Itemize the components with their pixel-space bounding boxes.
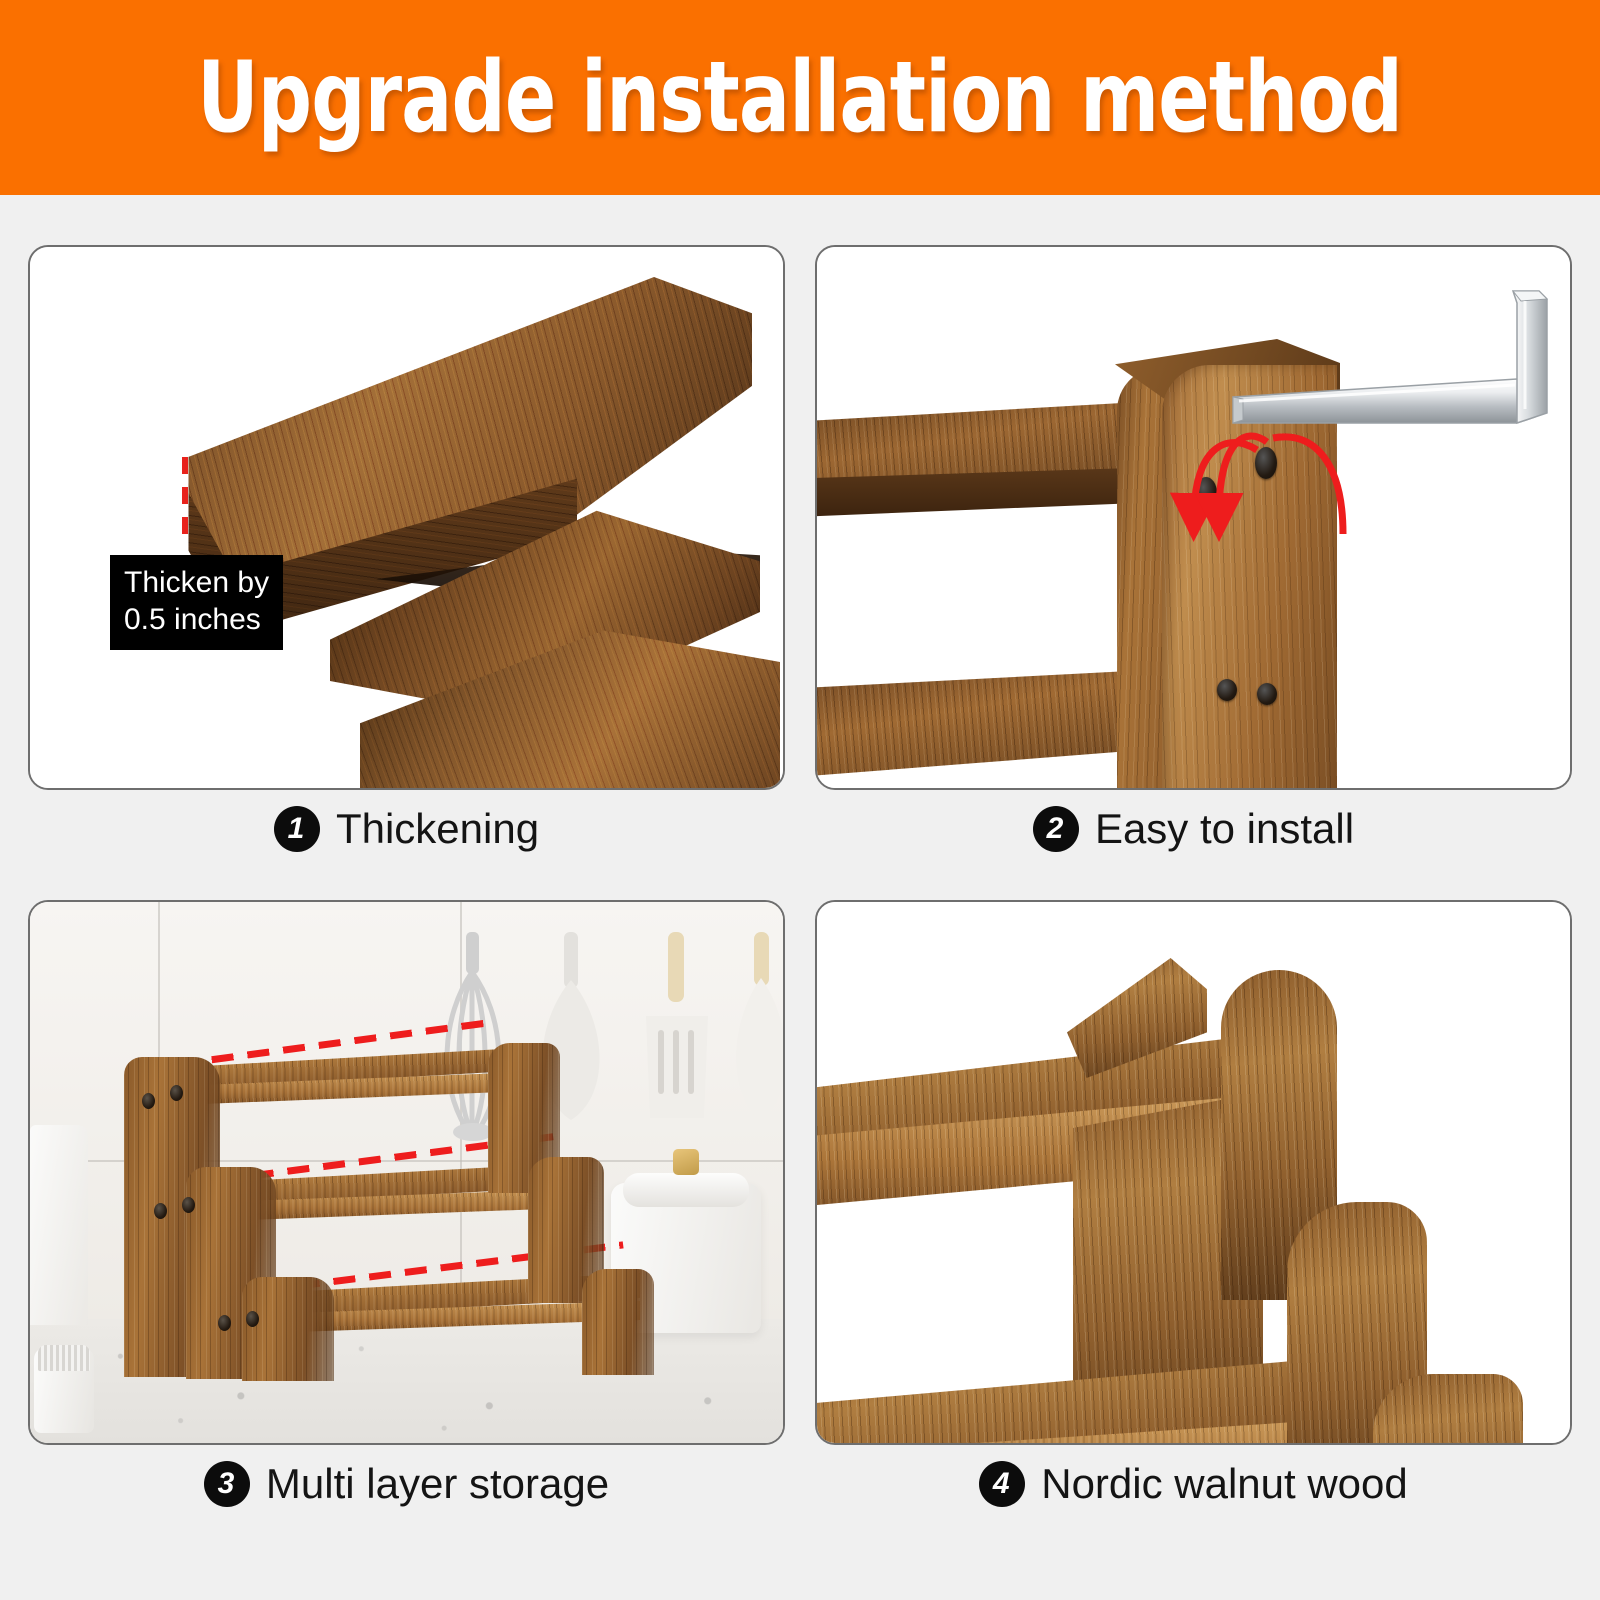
feature-cell-easy-install: 2 Easy to install xyxy=(815,245,1572,790)
three-tier-rack xyxy=(90,1015,710,1385)
feature-cell-thickening: Thicken by 0.5 inches 1 Thickening xyxy=(28,245,785,790)
screw-dot xyxy=(218,1315,231,1331)
caption-text-3: Multi layer storage xyxy=(266,1460,609,1508)
left-side-step-3 xyxy=(242,1277,334,1381)
screw-dot xyxy=(170,1085,183,1101)
right-side-step-3 xyxy=(582,1269,654,1375)
thick-board-illustration: Thicken by 0.5 inches xyxy=(30,247,783,788)
screw-dot xyxy=(246,1311,259,1327)
panel-easy-install xyxy=(815,245,1572,790)
kitchen-scene xyxy=(30,902,783,1443)
badge-number-3: 3 xyxy=(204,1461,250,1507)
wood-grain-closeup xyxy=(817,902,1570,1443)
shaker-cap xyxy=(38,1345,90,1371)
feature-grid: Thicken by 0.5 inches 1 Thickening xyxy=(0,195,1600,1600)
caption-thickening: 1 Thickening xyxy=(28,805,785,853)
hex-key-icon xyxy=(1217,277,1572,457)
panel-multi-layer xyxy=(28,900,785,1445)
screw-hole-3 xyxy=(1217,679,1237,701)
feature-cell-multi-layer: 3 Multi layer storage xyxy=(28,900,785,1445)
badge-number-1: 1 xyxy=(274,806,320,852)
badge-number-2: 2 xyxy=(1033,806,1079,852)
panel-thickening: Thicken by 0.5 inches xyxy=(28,245,785,790)
caption-text-2: Easy to install xyxy=(1095,805,1354,853)
feature-cell-walnut-wood: 4 Nordic walnut wood xyxy=(815,900,1572,1445)
screw-hole-4 xyxy=(1257,683,1277,705)
page-title: Upgrade installation method xyxy=(198,49,1403,147)
caption-easy-install: 2 Easy to install xyxy=(815,805,1572,853)
screw-dot xyxy=(182,1197,195,1213)
panel-walnut-wood xyxy=(815,900,1572,1445)
screw-dot xyxy=(154,1203,167,1219)
thickness-callout-label: Thicken by 0.5 inches xyxy=(110,555,283,650)
caption-multi-layer: 3 Multi layer storage xyxy=(28,1460,785,1508)
header-banner: Upgrade installation method xyxy=(0,0,1600,195)
caption-text-4: Nordic walnut wood xyxy=(1041,1460,1408,1508)
badge-number-4: 4 xyxy=(979,1461,1025,1507)
caption-text-1: Thickening xyxy=(336,805,539,853)
left-appliance xyxy=(30,1125,88,1325)
spoon-icon xyxy=(718,932,783,1142)
screw-dot xyxy=(142,1093,155,1109)
install-illustration xyxy=(817,247,1570,788)
caption-walnut-wood: 4 Nordic walnut wood xyxy=(815,1460,1572,1508)
measure-dashed-line xyxy=(182,457,188,543)
